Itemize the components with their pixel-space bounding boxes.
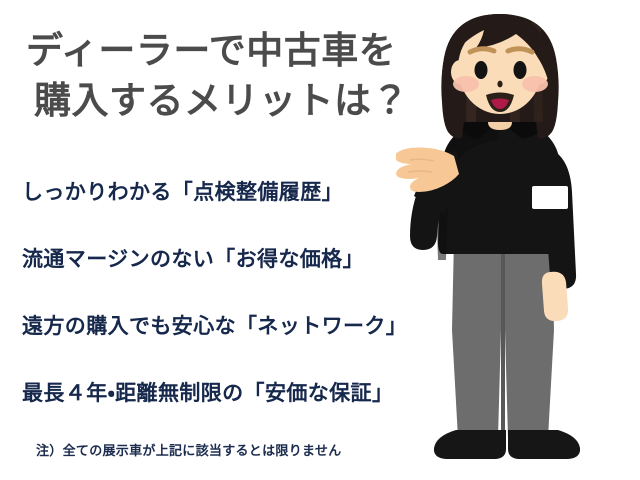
page-title-line-2: 購入するメリットは？	[0, 76, 420, 126]
saleswoman-illustration	[396, 0, 640, 480]
footnote-disclaimer: 注）全ての展示車が上記に該当するとは限りません	[36, 440, 342, 459]
shoes-shape	[434, 430, 580, 459]
trousers-shape	[452, 238, 554, 438]
page-title: ディーラーで中古車を 購入するメリットは？	[0, 26, 420, 127]
poster-canvas: ディーラーで中古車を 購入するメリットは？ しっかりわかる「点検整備履歴」 流通…	[0, 0, 640, 480]
page-title-line-1: ディーラーで中古車を	[0, 26, 420, 76]
name-tag	[532, 186, 568, 209]
nose-shape	[497, 81, 502, 88]
